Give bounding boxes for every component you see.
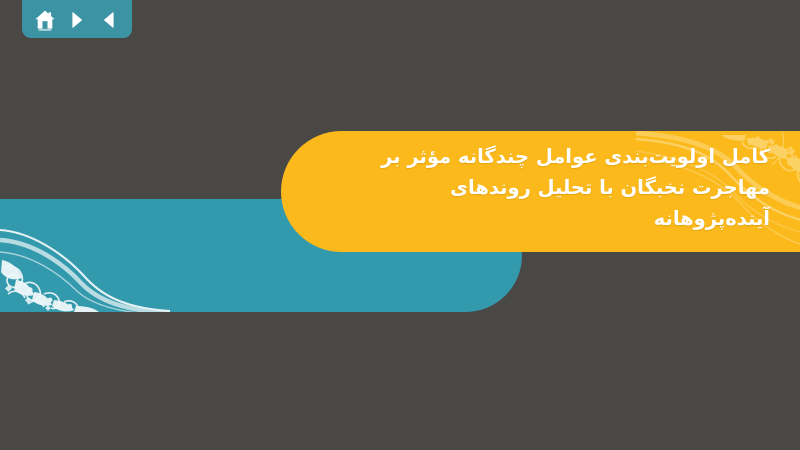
- slide-title: کامل اولویت‌بندی عوامل چندگانه مؤثر بر م…: [270, 131, 770, 234]
- next-slide-button[interactable]: [65, 8, 89, 32]
- title-line-3: آینده‌پژوهانه: [270, 203, 770, 234]
- slide-navigation-bar: [22, 0, 132, 38]
- home-icon: [34, 9, 56, 31]
- triangle-left-icon: [99, 10, 119, 30]
- title-line-2: مهاجرت نخبگان با تحلیل روندهای: [270, 172, 770, 203]
- triangle-right-icon: [67, 10, 87, 30]
- home-button[interactable]: [33, 8, 57, 32]
- previous-slide-button[interactable]: [97, 8, 121, 32]
- arabesque-ornament-mirrored-icon: [0, 199, 170, 312]
- title-line-1: کامل اولویت‌بندی عوامل چندگانه مؤثر بر: [270, 141, 770, 172]
- presentation-slide: کامل اولویت‌بندی عوامل چندگانه مؤثر بر م…: [0, 0, 800, 450]
